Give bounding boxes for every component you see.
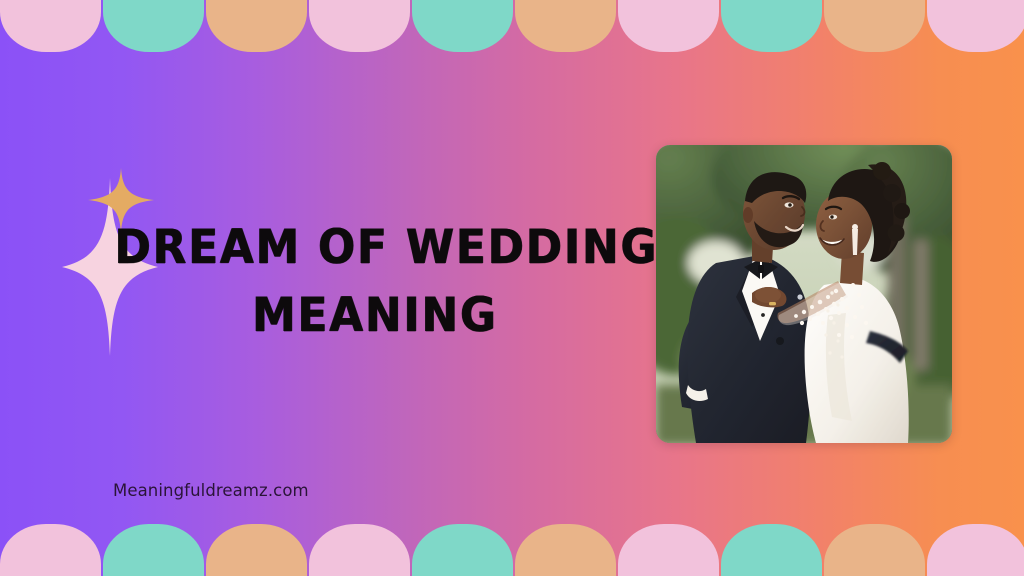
scallop-segment	[927, 524, 1024, 576]
scallop-segment	[412, 524, 513, 576]
scallop-segment	[618, 524, 719, 576]
scallop-segment	[0, 524, 101, 576]
scallop-segment	[824, 0, 925, 52]
site-url-label: Meaningfuldreamz.com	[113, 481, 309, 500]
scallop-segment	[721, 524, 822, 576]
scallop-segment	[103, 0, 204, 52]
scallop-segment	[618, 0, 719, 52]
bottom-scallop-border	[0, 524, 1024, 576]
wedding-couple-photo	[656, 145, 952, 443]
scallop-segment	[309, 0, 410, 52]
scallop-segment	[309, 524, 410, 576]
scallop-segment	[206, 0, 307, 52]
poster-canvas: Dream of Wedding Meaning Meaningfuldream…	[0, 0, 1024, 576]
scallop-segment	[0, 0, 101, 52]
scallop-segment	[927, 0, 1024, 52]
page-title: Dream of Wedding Meaning	[115, 214, 636, 350]
top-scallop-border	[0, 0, 1024, 52]
scallop-segment	[721, 0, 822, 52]
scallop-segment	[206, 524, 307, 576]
page-title-line-1: Dream of Wedding	[115, 214, 636, 282]
scallop-segment	[412, 0, 513, 52]
scallop-segment	[824, 524, 925, 576]
page-title-line-2: Meaning	[115, 282, 636, 350]
scallop-segment	[515, 0, 616, 52]
scallop-segment	[103, 524, 204, 576]
scallop-segment	[515, 524, 616, 576]
